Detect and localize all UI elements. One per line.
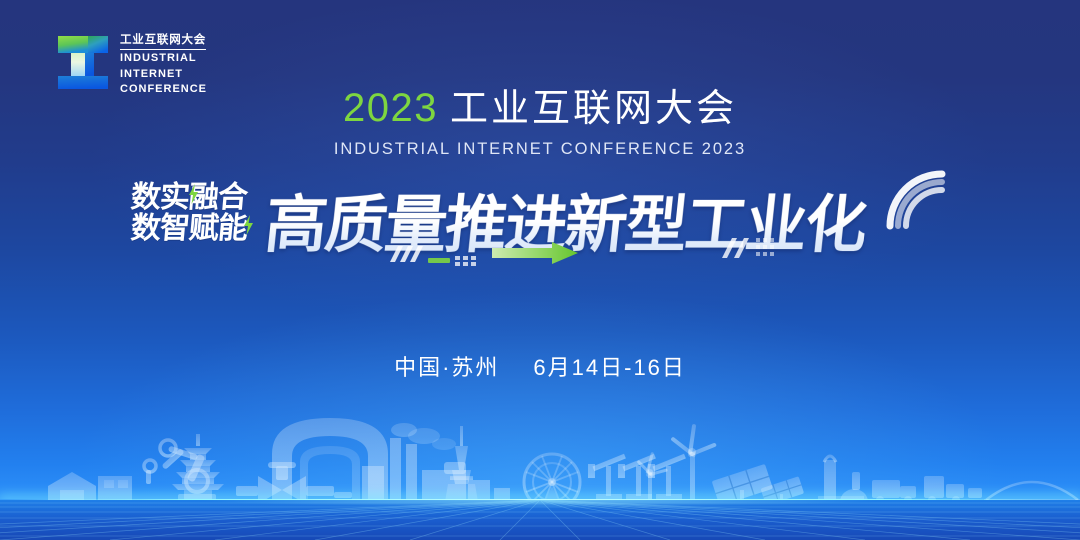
skyline-shapes [144,423,686,504]
conference-poster: 工业互联网大会 INDUSTRIAL INTERNET CONFERENCE 2… [0,0,1080,540]
wind-turbine-icon [670,424,717,502]
industrial-valve-icon [236,462,352,504]
logo-wordmark: 工业互联网大会 INDUSTRIAL INTERNET CONFERENCE [120,28,207,97]
speed-lines-decoration [386,244,456,266]
event-meta-block: 中国·苏州 6月14日-16日 [0,350,1080,382]
conference-logo: 工业互联网大会 INDUSTRIAL INTERNET CONFERENCE [55,28,207,97]
logo-name-en-line2: INTERNET [120,67,207,82]
warehouse-icon [48,472,132,502]
speed-lines-decoration [720,236,800,262]
industrial-internet-conference-logo-mark [55,31,111,93]
wifi-signal-arcs-icon [884,168,948,232]
event-dates: 6月14日-16日 [533,350,686,382]
oil-pumpjack-icon [588,454,686,502]
logo-name-cn: 工业互联网大会 [120,33,206,50]
event-location: 中国·苏州 [394,350,499,382]
event-title-cn: 工业互联网大会 [450,88,737,130]
event-year: 2023 [343,86,438,130]
perspective-grid-floor [0,500,1080,540]
lightning-bolt-icon [243,215,254,235]
green-arrow-right-icon [492,240,578,266]
event-title: 2023工业互联网大会 [0,88,1080,128]
slogan-secondary-line2: 数智赋能 [130,213,249,244]
title-block: 2023工业互联网大会 INDUSTRIAL INTERNET CONFEREN… [0,88,1080,159]
pagoda-icon [172,434,224,502]
lightning-bolt-icon [188,184,199,204]
chemical-tank-icon [818,456,868,502]
logo-name-en-line1: INDUSTRIAL [120,51,207,66]
slogan-block: 数实融合 数智赋能 高质量推进新型工业化 [0,178,1080,284]
slogan-secondary: 数实融合 数智赋能 [131,182,247,244]
event-subtitle-en: INDUSTRIAL INTERNET CONFERENCE 2023 [0,140,1080,159]
